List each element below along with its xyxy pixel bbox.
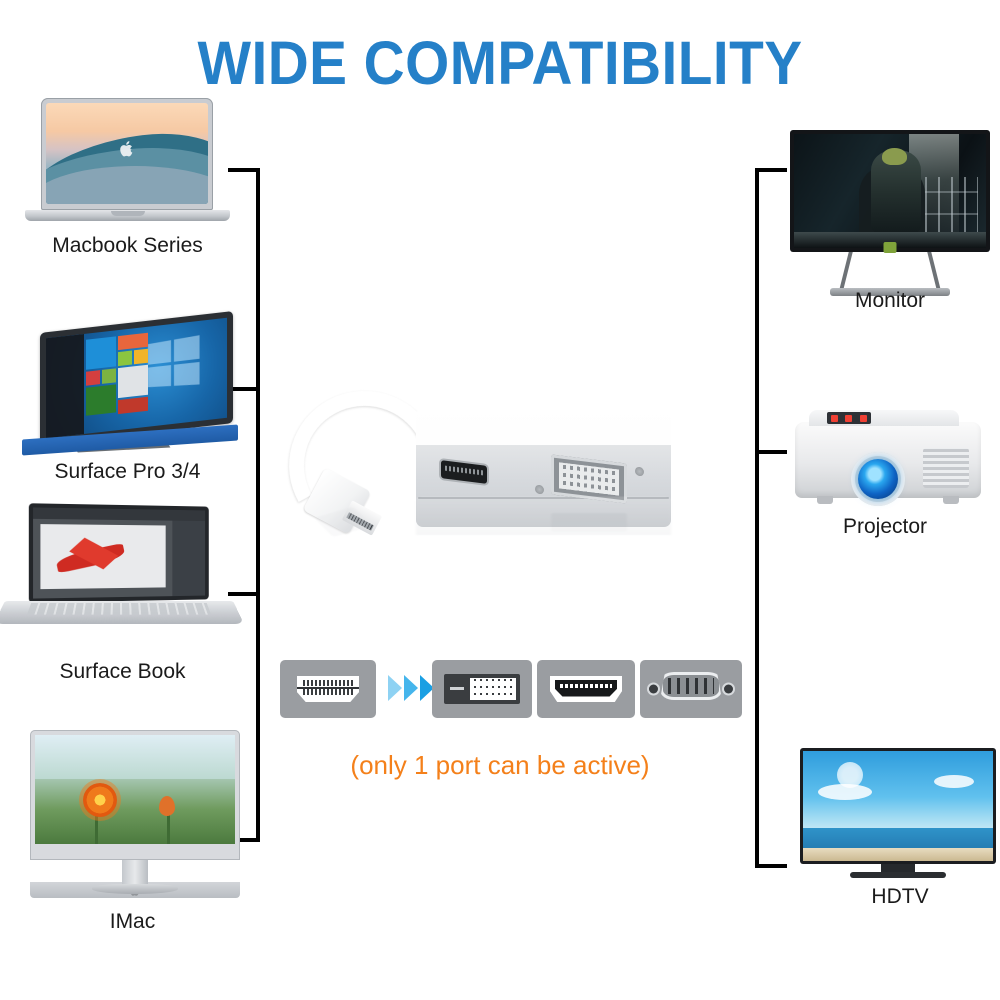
- surface-pro-taskbar: [46, 334, 84, 438]
- label-macbook: Macbook Series: [15, 234, 240, 258]
- surface-book-display: [33, 507, 205, 598]
- hdtv-stand-base: [850, 872, 946, 878]
- projector-control-panel: [827, 412, 871, 424]
- device-macbook: [25, 98, 230, 223]
- monitor-stand-right: [927, 252, 940, 290]
- macbook-screen: [41, 98, 213, 210]
- right-bracket-tick-hdtv: [755, 864, 787, 868]
- infographic-canvas: WIDE COMPATIBILITY Macbook Series: [0, 0, 1000, 1000]
- active-port-note: (only 1 port can be active): [0, 750, 1000, 781]
- mini-displayport-icon: [297, 676, 359, 702]
- label-surface-pro: Surface Pro 3/4: [15, 460, 240, 484]
- device-surface-book: [5, 505, 233, 635]
- port-tile-mini-displayport: [280, 660, 376, 718]
- monitor-bezel: [790, 130, 990, 252]
- projector-foot-left: [817, 496, 833, 504]
- projector-foot-right: [943, 496, 959, 504]
- label-surface-book: Surface Book: [10, 660, 235, 684]
- port-tile-hdmi: [537, 660, 635, 718]
- label-monitor: Monitor: [780, 289, 1000, 313]
- surface-pro-tiles: [86, 332, 151, 425]
- projector-body: [795, 422, 981, 498]
- hdmi-port-icon: [550, 676, 622, 702]
- surface-book-screen: [29, 503, 209, 603]
- imac-stand-neck: [122, 860, 148, 886]
- apple-logo-icon: [119, 140, 135, 158]
- left-bracket-vertical-line: [256, 168, 260, 842]
- vga-port-icon: [649, 672, 733, 706]
- surface-pro-screen: [40, 311, 233, 445]
- macbook-notch: [111, 211, 145, 216]
- adapter-screw-left: [535, 484, 544, 494]
- product-adapter: [283, 385, 723, 650]
- flower-graphic: [83, 783, 117, 817]
- monitor-display: [794, 134, 986, 248]
- port-tile-vga: [640, 660, 742, 718]
- label-imac: IMac: [20, 910, 245, 934]
- surface-book-keyboard-base: [0, 601, 244, 624]
- label-hdtv: HDTV: [790, 885, 1000, 909]
- device-projector: [795, 410, 981, 505]
- windows-logo-icon: [148, 335, 200, 387]
- adapter-seam-line: [418, 497, 669, 499]
- device-surface-pro: [22, 316, 242, 448]
- macbook-wallpaper: [46, 103, 208, 204]
- left-bracket-tick-macbook: [228, 168, 260, 172]
- right-bracket-tick-monitor: [755, 168, 787, 172]
- port-tile-dvi: [432, 660, 532, 718]
- monitor-brand-logo-icon: [884, 242, 897, 253]
- projector-top-panel: [809, 410, 959, 426]
- right-bracket-tick-projector: [755, 450, 787, 454]
- label-projector: Projector: [775, 515, 995, 539]
- page-title: WIDE COMPATIBILITY: [35, 28, 965, 98]
- projector-vent: [923, 448, 969, 488]
- projector-lens: [851, 452, 905, 506]
- monitor-stand-left: [839, 252, 852, 290]
- device-monitor: [790, 130, 990, 300]
- dvi-port-icon: [444, 674, 520, 704]
- adapter-front-face: [416, 445, 671, 527]
- surface-pro-display: [46, 318, 227, 439]
- imac-stand-foot: [92, 884, 178, 894]
- adapter-screw-right: [635, 466, 644, 476]
